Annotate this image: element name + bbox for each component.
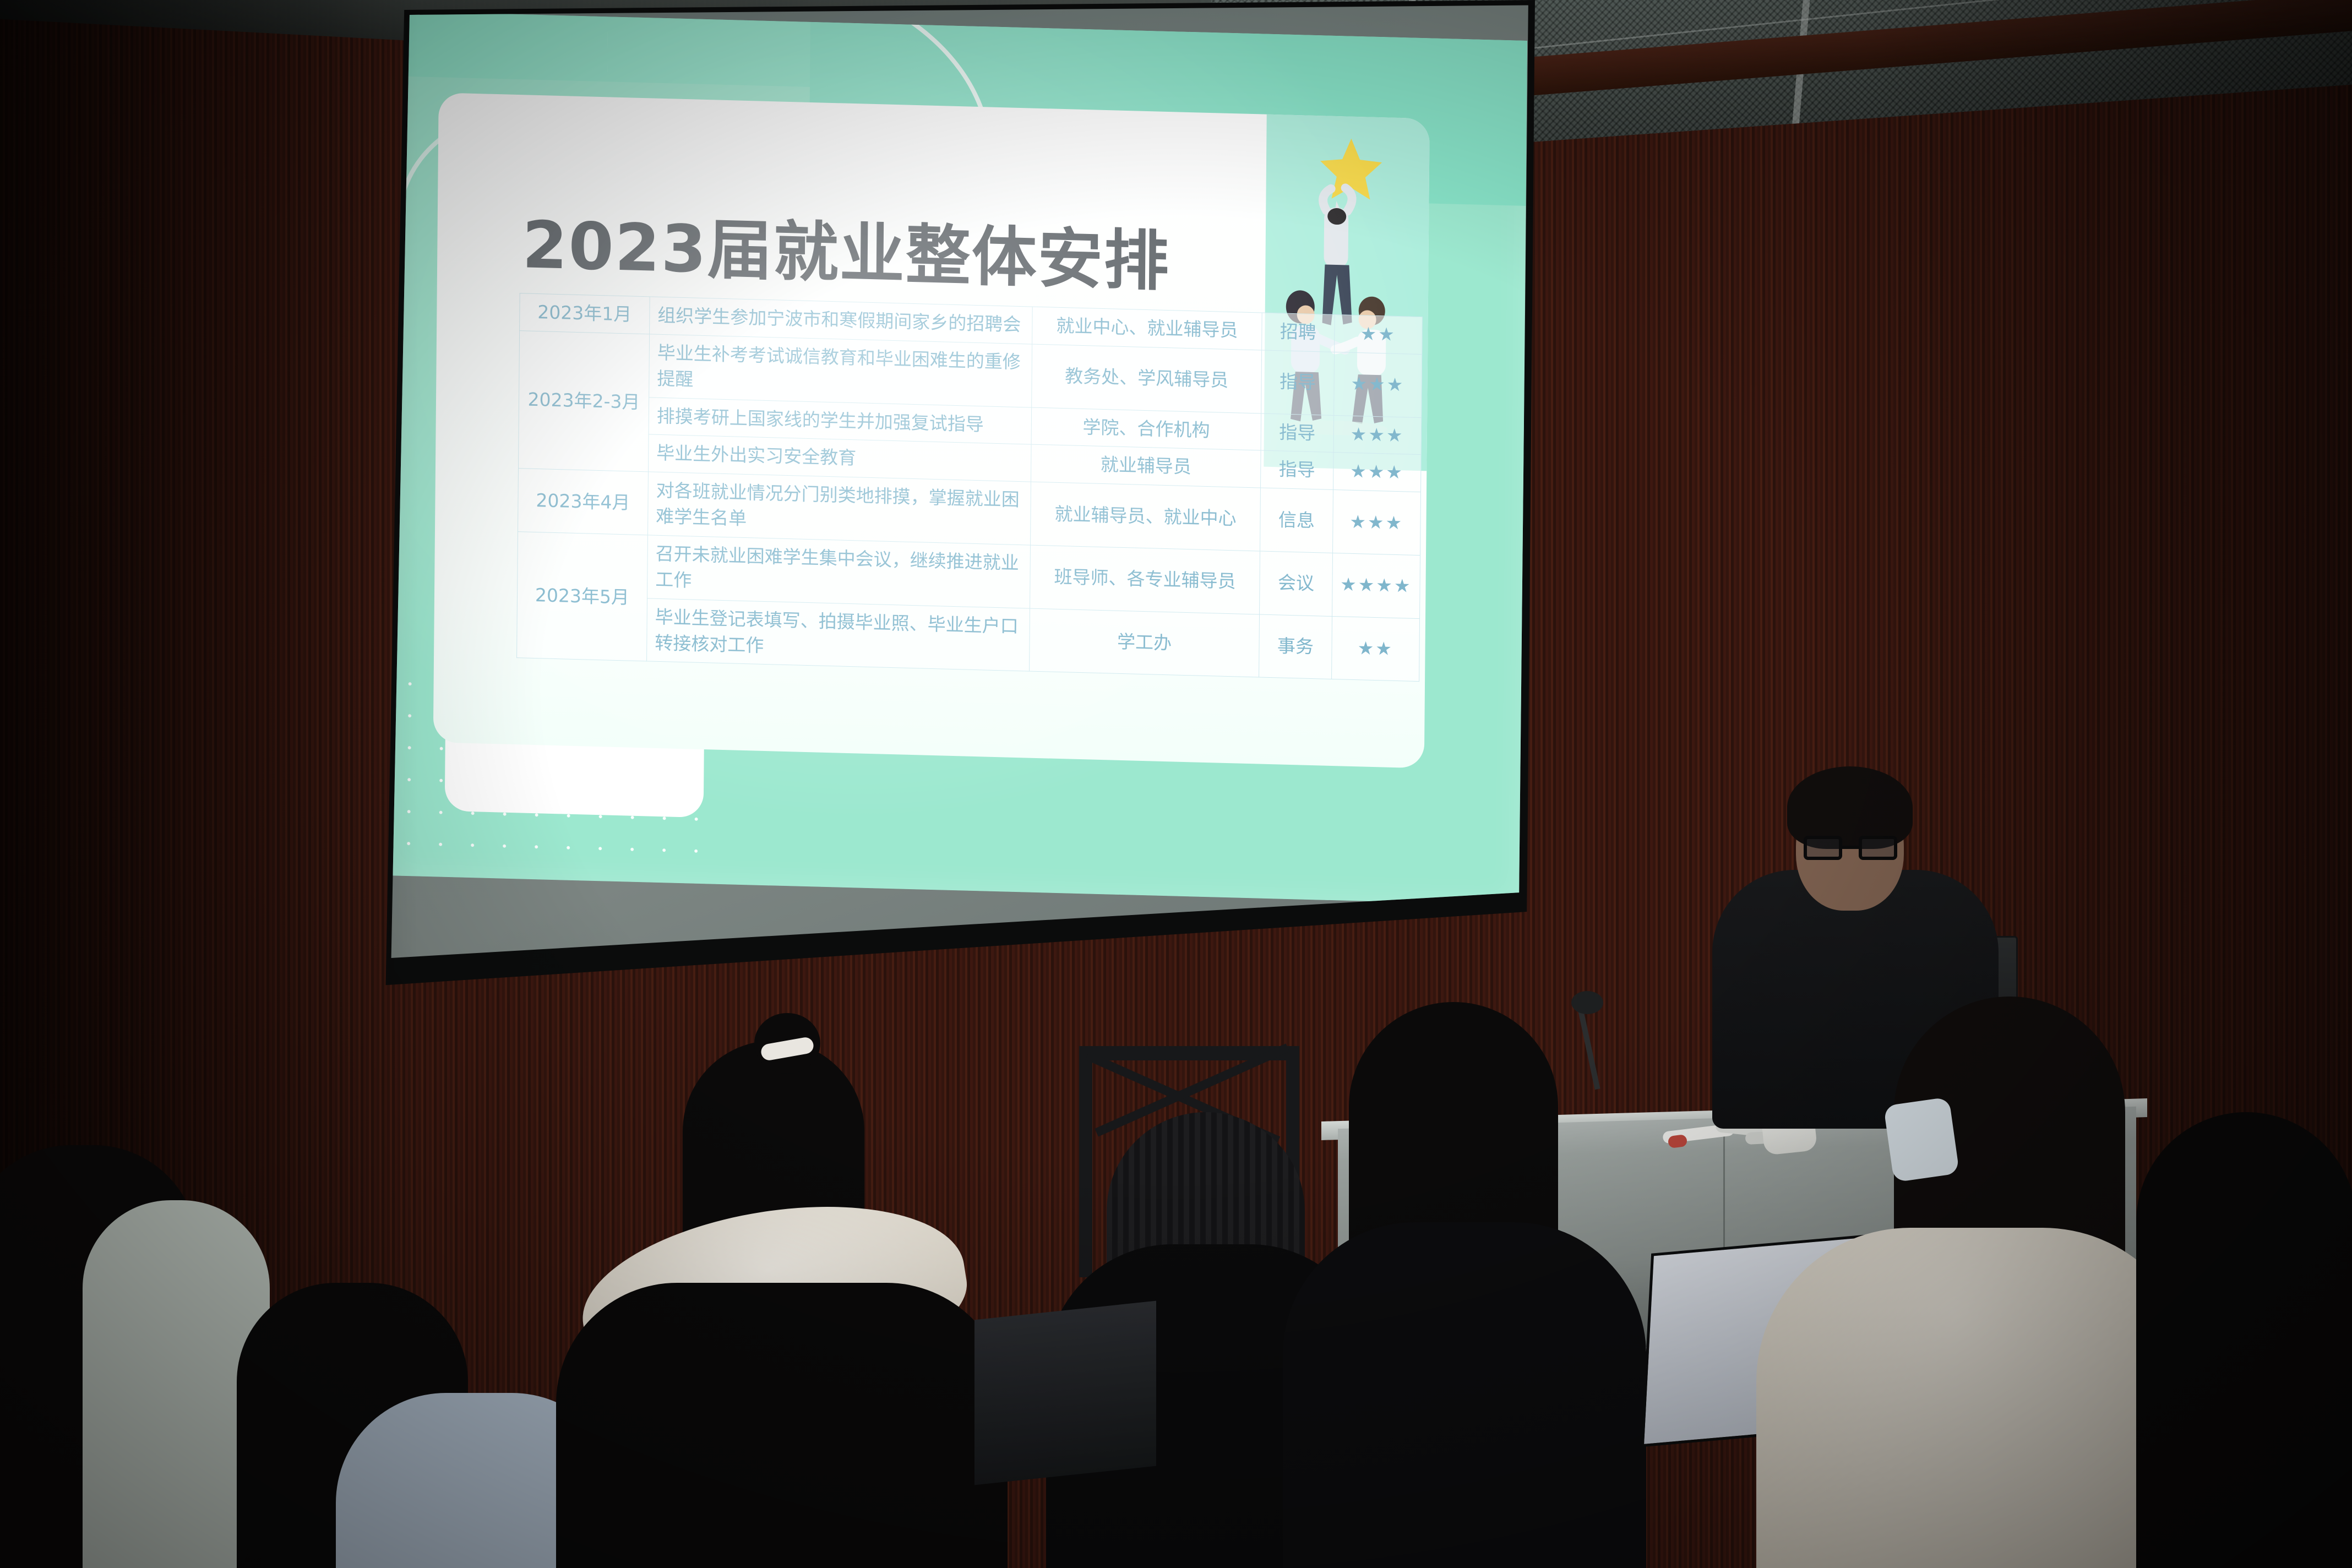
cell-task: 召开未就业困难学生集中会议，继续推进就业工作 — [647, 535, 1031, 608]
cell-owner: 教务处、学风辅导员 — [1032, 344, 1262, 413]
audience-member-coat — [1283, 1222, 1646, 1568]
schedule-table-wrapper: 2023年1月组织学生参加宁波市和寒假期间家乡的招聘会就业中心、就业辅导员招聘★… — [516, 293, 1423, 682]
microphone-head — [1571, 991, 1603, 1014]
screen-surface: 2023届就业整体安排 2023年1月组织学生参加宁波市和寒假期间家乡的招聘会就… — [383, 3, 1531, 966]
cell-owner: 学院、合作机构 — [1031, 407, 1261, 451]
presentation-slide: 2023届就业整体安排 2023年1月组织学生参加宁波市和寒假期间家乡的招聘会就… — [385, 11, 1527, 905]
microphone-stem — [1576, 1003, 1600, 1090]
cell-stars: ★★ — [1334, 314, 1422, 354]
cell-task: 对各班就业情况分门别类地排摸，掌握就业困难学生名单 — [647, 472, 1031, 545]
cell-stars: ★★★★ — [1332, 553, 1420, 618]
cell-month: 2023年4月 — [518, 469, 649, 535]
cell-month: 2023年2-3月 — [518, 331, 649, 472]
cell-owner: 班导师、各专业辅导员 — [1030, 545, 1260, 614]
lecture-hall-scene: 2023届就业整体安排 2023年1月组织学生参加宁波市和寒假期间家乡的招聘会就… — [0, 0, 2352, 1568]
audience-member — [2136, 1112, 2352, 1568]
cell-stars: ★★★ — [1333, 453, 1421, 492]
cell-owner: 学工办 — [1029, 608, 1259, 678]
schedule-table: 2023年1月组织学生参加宁波市和寒假期间家乡的招聘会就业中心、就业辅导员招聘★… — [516, 293, 1423, 682]
slide-content-card: 2023届就业整体安排 2023年1月组织学生参加宁波市和寒假期间家乡的招聘会就… — [433, 92, 1430, 768]
cell-type: 事务 — [1259, 614, 1332, 679]
cell-type: 指导 — [1261, 450, 1333, 489]
face-mask — [1883, 1097, 1959, 1182]
presenter-glasses — [1804, 836, 1897, 860]
cell-stars: ★★ — [1331, 616, 1419, 682]
cell-month: 2023年1月 — [520, 293, 650, 334]
cell-task: 毕业生登记表填写、拍摄毕业照、毕业生户口转接核对工作 — [647, 598, 1030, 672]
audience-member-coat — [556, 1283, 1008, 1568]
laptop-closed[interactable] — [974, 1301, 1156, 1485]
cell-type: 招聘 — [1262, 313, 1335, 352]
cell-type: 会议 — [1260, 551, 1332, 616]
cell-type: 信息 — [1260, 488, 1333, 553]
cell-type: 指导 — [1261, 350, 1334, 415]
fur-coat — [1756, 1228, 2197, 1568]
cell-owner: 就业中心、就业辅导员 — [1032, 307, 1262, 350]
cell-type: 指导 — [1261, 413, 1333, 453]
slide-title: 2023届就业整体安排 — [522, 192, 1170, 303]
cell-month: 2023年5月 — [517, 532, 648, 662]
projection-screen: 2023届就业整体安排 2023年1月组织学生参加宁波市和寒假期间家乡的招聘会就… — [379, 0, 1557, 1013]
cell-owner: 就业辅导员、就业中心 — [1030, 482, 1260, 551]
slide-canvas: 2023届就业整体安排 2023年1月组织学生参加宁波市和寒假期间家乡的招聘会就… — [385, 11, 1527, 905]
cell-stars: ★★★ — [1332, 490, 1420, 556]
cell-owner: 就业辅导员 — [1031, 445, 1261, 488]
cell-stars: ★★★ — [1333, 352, 1422, 417]
cell-stars: ★★★ — [1333, 415, 1422, 455]
microphone — [1553, 991, 1635, 1090]
cell-task: 毕业生补考考试诚信教育和毕业困难生的重修提醒 — [649, 334, 1032, 407]
